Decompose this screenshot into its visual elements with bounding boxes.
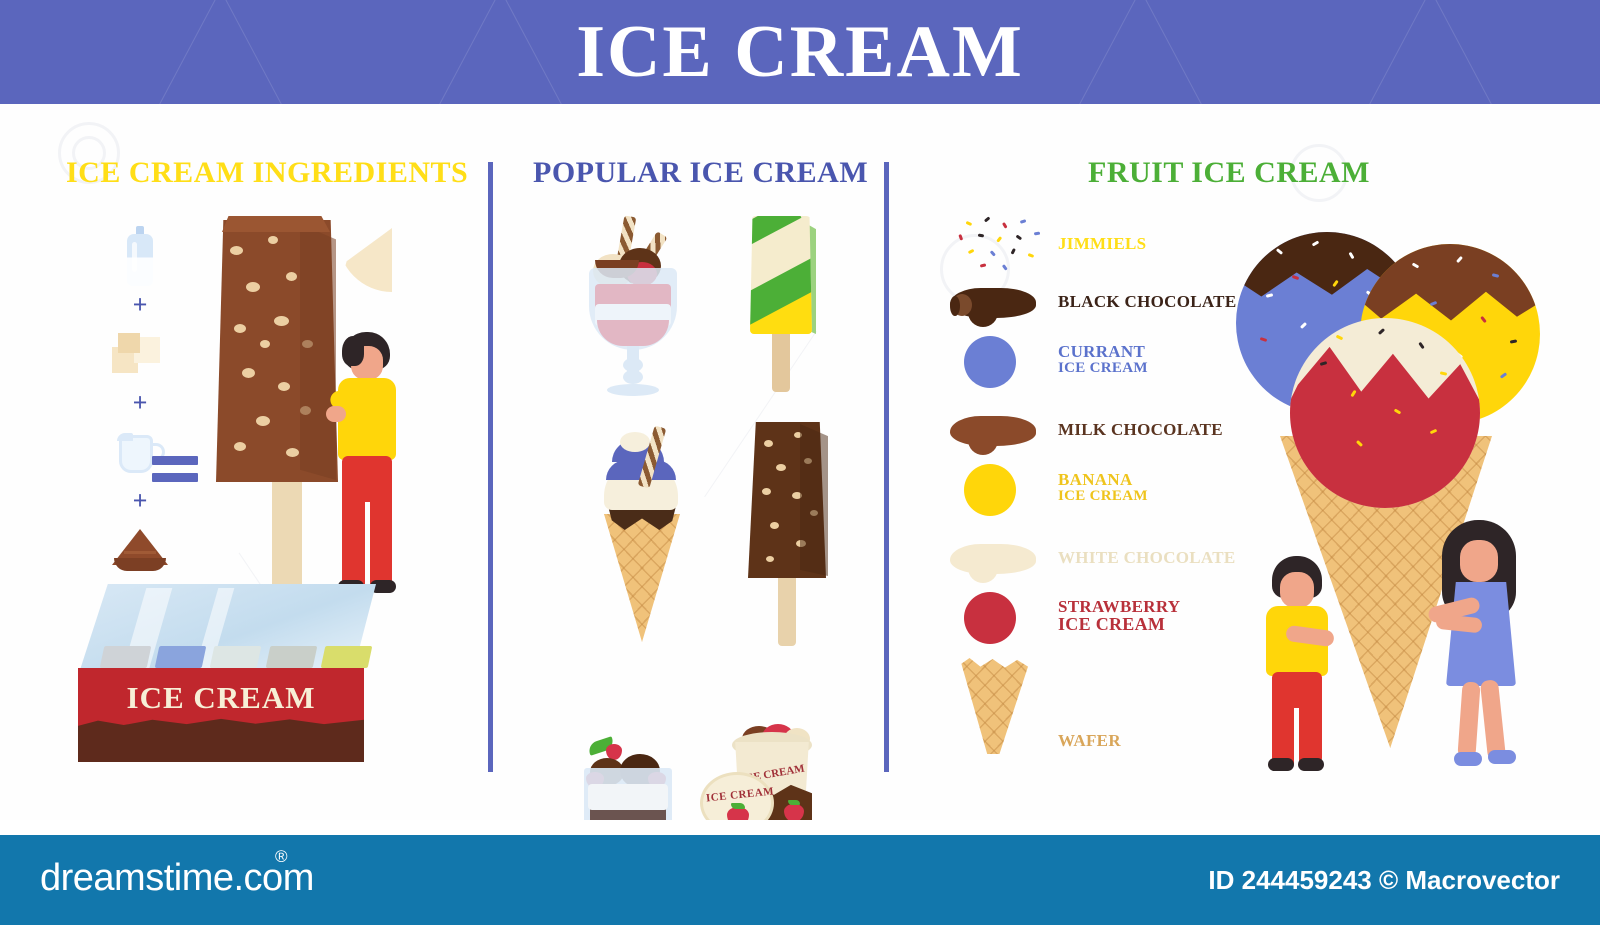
black-chocolate-icon [940,274,1058,330]
popular-item-striped-popsicle [742,216,832,406]
milk-chocolate-icon [940,402,1058,458]
plus-symbol-2: + [92,388,188,418]
registered-mark: ® [275,847,288,867]
banana-scoop-icon [940,460,1058,516]
bite-mark [338,228,392,292]
popular-item-sundae-glass [575,216,695,406]
legend-item-black-chocolate: BLACK CHOCOLATE [940,274,1236,330]
legend-item-milk-chocolate: MILK CHOCOLATE [940,402,1223,458]
ice-cream-freezer: ICE CREAM [78,584,376,762]
legend-label-strawberry: STRAWBERRY ICE CREAM [1058,598,1180,635]
wafer-cone-icon [940,658,1058,754]
character-yellow-shirt [1256,556,1340,774]
plus-symbol-3: + [92,486,188,516]
section-title-ingredients: ICE CREAM INGREDIENTS [66,156,468,190]
popular-item-berry-cup [570,724,690,820]
strawberry-scoop-icon [940,588,1058,644]
big-scoop-strawberry [1290,318,1480,508]
legend-item-wafer: WAFER [940,658,1121,754]
legend-label-wafer: WAFER [1058,732,1121,754]
plus-symbol-1: + [92,290,188,320]
character-blue-dress [1432,520,1536,776]
equals-symbol [152,456,198,482]
legend-label-currant: CURRANT ICE CREAM [1058,343,1148,377]
column-divider-1 [488,162,493,772]
ingredient-milk-bottle [92,222,188,290]
legend-item-currant: CURRANT ICE CREAM [940,332,1148,388]
sugar-cubes-icon [112,331,168,377]
sprinkles-icon [940,216,1058,272]
currant-scoop-icon [940,332,1058,388]
bar-stick [272,476,302,588]
white-chocolate-icon [940,530,1058,586]
ingredient-sugar-cubes [92,320,188,388]
ingredient-chocolate [92,516,188,584]
legend-label-banana: BANANA ICE CREAM [1058,471,1148,505]
column-divider-2 [884,162,889,772]
legend-label-jimmiels: JIMMIELS [1058,235,1146,253]
popular-item-chocolate-nut-bar [742,422,842,652]
section-title-fruit: FRUIT ICE CREAM [1088,156,1370,190]
legend-item-white-chocolate: WHITE CHOCOLATE [940,530,1236,586]
legend-label-black-chocolate: BLACK CHOCOLATE [1058,293,1236,311]
freezer-tubs [102,646,370,668]
page-title: ICE CREAM [576,15,1024,89]
legend-item-banana: BANANA ICE CREAM [940,460,1148,516]
infographic-body: ICE CREAM INGREDIENTS POPULAR ICE CREAM … [0,104,1600,820]
milk-bottle-icon [127,226,153,286]
character-holding-bar [328,332,404,612]
freezer-label: ICE CREAM [78,680,364,716]
page-footer: dreamstime.com ® ID 244459243 © Macrovec… [0,835,1600,925]
dreamstime-logo: dreamstime.com [40,857,314,900]
legend-item-strawberry: STRAWBERRY ICE CREAM [940,588,1180,644]
popular-item-swirl-waffle-cone [582,426,702,646]
freezer-base [78,718,364,762]
legend-label-milk-chocolate: MILK CHOCOLATE [1058,421,1223,439]
page-header: ICE CREAM [0,0,1600,104]
legend-label-white-chocolate: WHITE CHOCOLATE [1058,549,1236,567]
image-id-credit: ID 244459243 © Macrovector [1208,865,1560,896]
popular-item-ice-cream-tub: ICE CREAM ICE CREAM [700,720,840,820]
section-title-popular: POPULAR ICE CREAM [533,156,868,190]
giant-chocolate-bar [210,214,390,614]
tub-lid-text: ICE CREAM [703,785,778,805]
bar-top-face [222,216,330,232]
legend-item-jimmiels: JIMMIELS [940,216,1146,272]
chocolate-piece-icon [112,529,168,571]
